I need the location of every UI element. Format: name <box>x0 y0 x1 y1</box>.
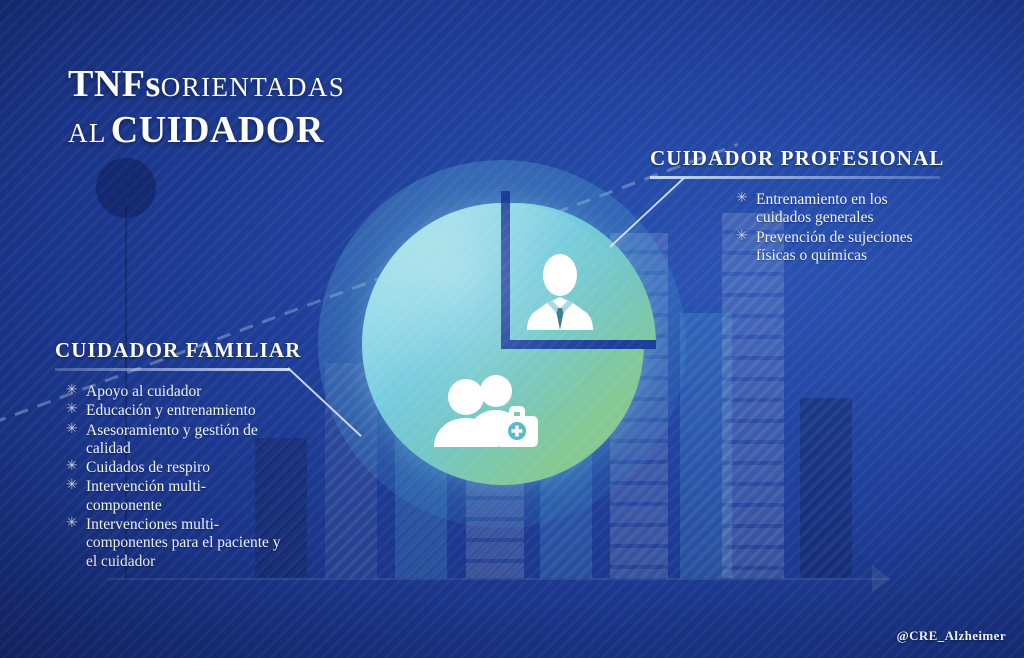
bullet-icon: ✳ <box>66 478 78 495</box>
professional-caregiver-icon <box>527 253 593 336</box>
callout-professional-rule <box>650 176 940 179</box>
bullet-icon: ✳ <box>736 191 748 208</box>
page-title: TNFsORIENTADAS AL CUIDADOR <box>68 62 345 152</box>
bullet-icon: ✳ <box>736 229 748 246</box>
callout-professional-title: CUIDADOR PROFESIONAL <box>650 146 940 171</box>
chart-x-axis <box>108 578 890 580</box>
callout-family: CUIDADOR FAMILIAR ✳Apoyo al cuidador ✳Ed… <box>55 338 290 572</box>
headline-al: AL <box>68 118 107 148</box>
bullet-icon: ✳ <box>66 422 78 439</box>
list-item-text: Cuidados de respiro <box>86 459 210 476</box>
headline-tnfs: TNFs <box>68 63 161 105</box>
bullet-icon: ✳ <box>66 402 78 419</box>
credit-handle: @CRE_Alzheimer <box>897 628 1006 644</box>
headline-cuidador: CUIDADOR <box>111 109 324 151</box>
background-bar <box>722 213 784 578</box>
list-item: ✳Entrenamiento en los cuidados generales <box>736 191 926 228</box>
headline-orientadas: ORIENTADAS <box>161 72 345 102</box>
callout-family-rule <box>55 368 290 371</box>
list-item: ✳Educación y entrenamiento <box>66 402 281 420</box>
list-item-text: Entrenamiento en los cuidados generales <box>756 191 888 226</box>
pie-slice-gap <box>501 340 656 349</box>
list-item-text: Asesoramiento y gestión de calidad <box>86 422 258 457</box>
family-caregiver-icon <box>434 371 540 456</box>
bullet-icon: ✳ <box>66 516 78 533</box>
background-bar <box>800 398 852 578</box>
list-item: ✳Prevención de sujeciones físicas o quím… <box>736 229 926 266</box>
callout-family-list: ✳Apoyo al cuidador ✳Educación y entrenam… <box>66 383 281 571</box>
list-item-text: Educación y entrenamiento <box>86 402 256 419</box>
callout-family-title: CUIDADOR FAMILIAR <box>55 338 290 363</box>
list-item: ✳Intervención multi-componente <box>66 478 281 515</box>
bullet-icon: ✳ <box>66 459 78 476</box>
list-item-text: Prevención de sujeciones físicas o quími… <box>756 229 913 264</box>
list-item-text: Apoyo al cuidador <box>86 383 201 400</box>
bullet-icon: ✳ <box>66 383 78 400</box>
list-item: ✳Asesoramiento y gestión de calidad <box>66 422 281 459</box>
axis-origin-dot <box>96 158 156 218</box>
callout-professional: CUIDADOR PROFESIONAL ✳Entrenamiento en l… <box>650 146 940 266</box>
callout-professional-list: ✳Entrenamiento en los cuidados generales… <box>736 191 926 265</box>
infographic-canvas: TNFsORIENTADAS AL CUIDADOR CUIDADOR PROF… <box>0 0 1024 658</box>
list-item: ✳Apoyo al cuidador <box>66 383 281 401</box>
x-axis-arrow-icon <box>872 565 890 593</box>
pie-slice-gap <box>501 191 510 348</box>
list-item-text: Intervención multi-componente <box>86 478 206 513</box>
list-item-text: Intervenciones multi-componentes para el… <box>86 516 281 570</box>
list-item: ✳Cuidados de respiro <box>66 459 281 477</box>
list-item: ✳Intervenciones multi-componentes para e… <box>66 516 281 571</box>
